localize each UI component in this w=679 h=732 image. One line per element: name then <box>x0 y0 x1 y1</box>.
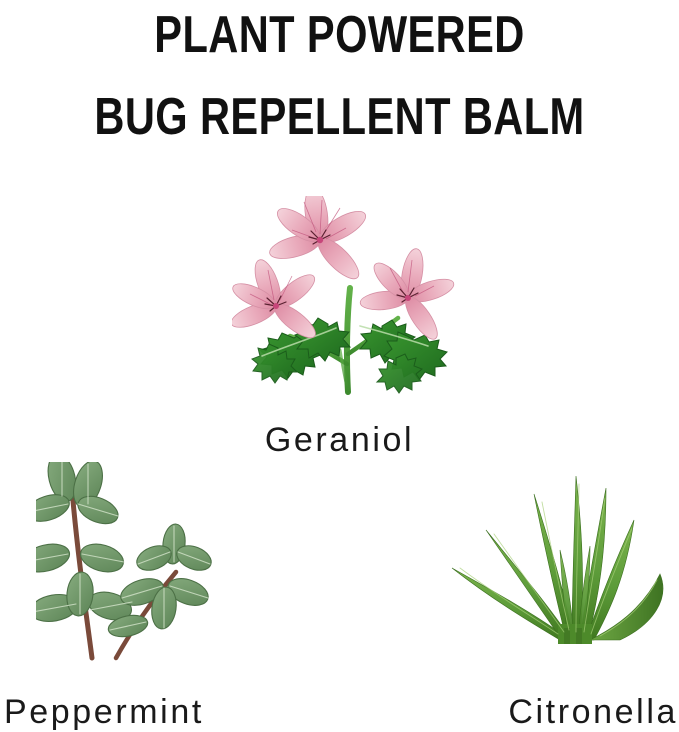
ingredient-label-peppermint: Peppermint <box>4 692 204 732</box>
headline-line-1: PLANT POWERED <box>68 6 611 64</box>
geranium-flower-top <box>267 196 370 285</box>
citronella-base <box>558 624 592 644</box>
ingredient-geraniol <box>232 196 462 406</box>
ingredient-peppermint <box>36 462 222 662</box>
peppermint-sprig-illustration <box>36 462 222 662</box>
ingredient-citronella <box>448 458 678 650</box>
peppermint-leaves-left <box>36 462 135 625</box>
ingredient-label-citronella: Citronella <box>508 692 678 732</box>
geranium-flower-left <box>232 257 320 344</box>
peppermint-leaves-right <box>106 523 214 640</box>
citronella-blade-highlights <box>460 484 657 636</box>
ingredient-label-geraniol: Geraniol <box>0 420 679 460</box>
citronella-blades <box>452 476 663 640</box>
headline-line-2: BUG REPELLENT BALM <box>68 88 611 146</box>
citronella-grass-illustration <box>448 458 678 650</box>
geranium-flower-illustration <box>232 196 462 406</box>
